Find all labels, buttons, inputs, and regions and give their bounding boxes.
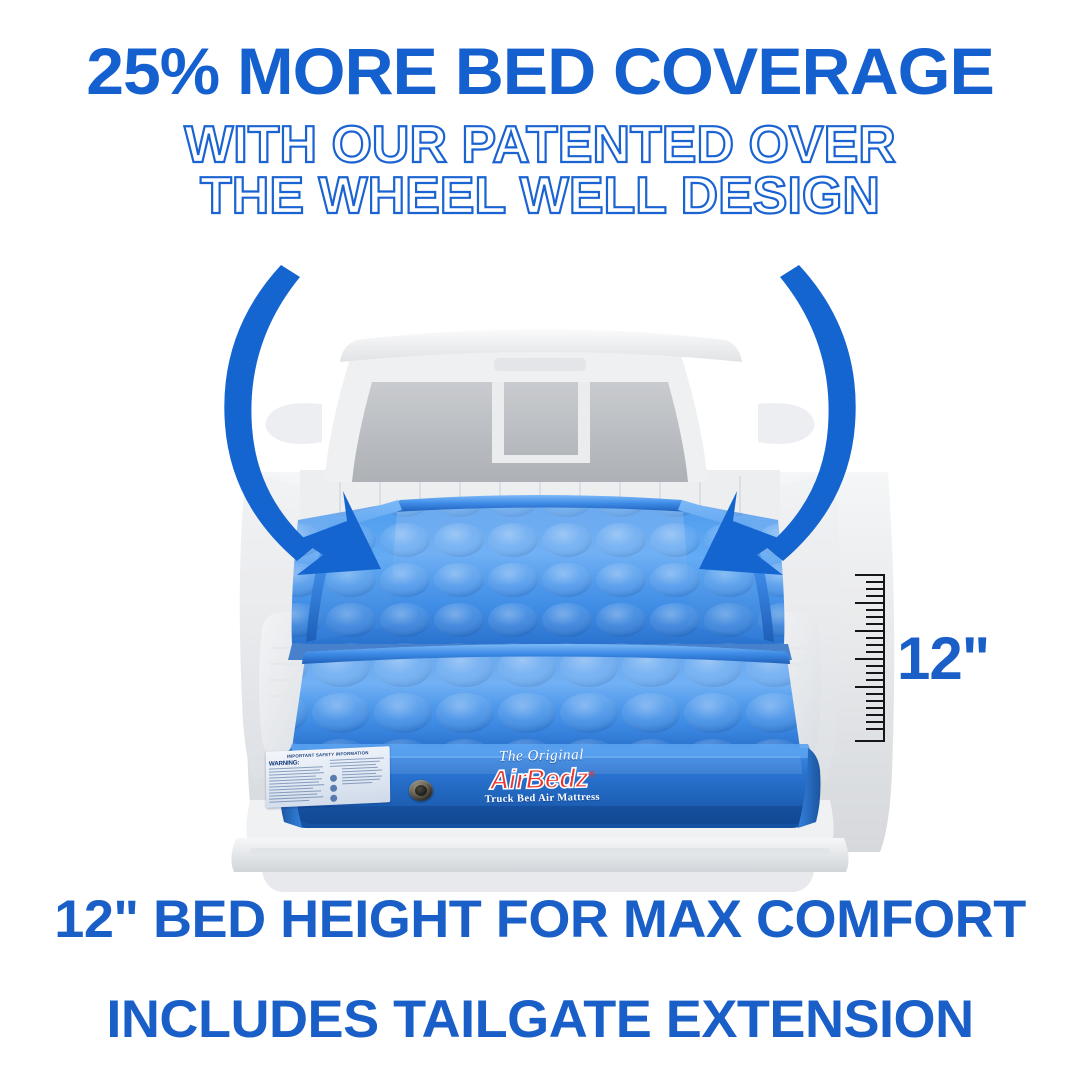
product-marketing-image: 25% MORE BED COVERAGE WITH OUR PATENTED … [0,0,1080,1080]
footer-line-1: 12" BED HEIGHT FOR MAX COMFORT [0,893,1080,946]
left-arrow-icon [224,265,381,575]
height-measurement-label: 12" [897,629,989,689]
right-arrow-icon [699,265,856,575]
footer-line-2: INCLUDES TAILGATE EXTENSION [0,993,1080,1046]
ruler-icon [851,574,885,742]
